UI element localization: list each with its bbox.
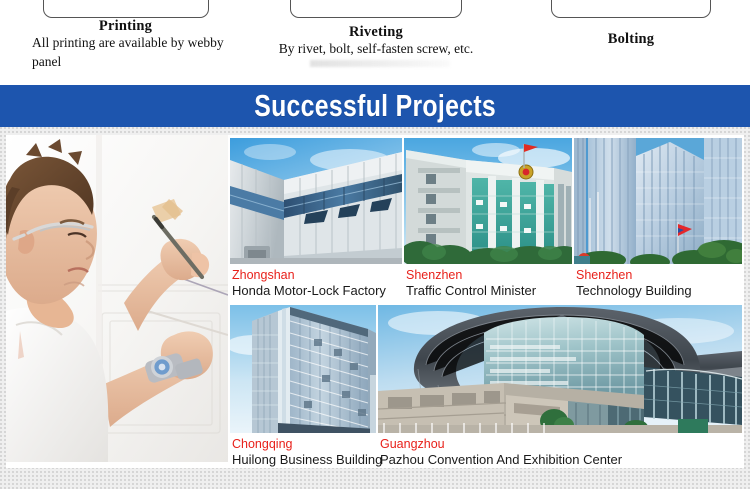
project-caption-5: Guangzhou Pazhou Convention And Exhibiti… [380, 437, 622, 468]
project-city-3: Shenzhen [576, 268, 692, 283]
project-city-2: Shenzhen [406, 268, 536, 283]
blue-glass-office-tower-photo [230, 305, 376, 433]
grey-panel-factory-photo [230, 138, 402, 264]
project-name-3: Technology Building [576, 283, 692, 299]
projects-panel: Zhongshan Honda Motor-Lock Factory [6, 135, 744, 468]
page-root: Printing All printing are available by w… [0, 0, 750, 489]
section-banner: Successful Projects [0, 85, 750, 127]
process-title-riveting: Riveting [254, 24, 498, 40]
project-image-3 [574, 138, 742, 264]
project-caption-1: Zhongshan Honda Motor-Lock Factory [232, 268, 386, 299]
printing-box-icon [43, 0, 209, 18]
process-description-printing: All printing are available by webby pane… [32, 33, 228, 71]
worker-marking-white-panel-photo [6, 135, 228, 462]
glass-tower-photo [574, 138, 742, 264]
rivet-screw-icon [290, 0, 462, 18]
clipped-text-artifact [310, 60, 450, 67]
project-name-4: Huilong Business Building [232, 452, 382, 468]
project-name-5: Pazhou Convention And Exhibition Center [380, 452, 622, 468]
project-city-5: Guangzhou [380, 437, 622, 452]
project-image-1 [230, 138, 402, 264]
project-city-4: Chongqing [232, 437, 382, 452]
teal-glass-government-building-photo [404, 138, 572, 264]
banner-title: Successful Projects [254, 88, 496, 124]
project-caption-4: Chongqing Huilong Business Building [232, 437, 382, 468]
project-name-1: Honda Motor-Lock Factory [232, 283, 386, 299]
project-image-2 [404, 138, 572, 264]
project-caption-2: Shenzhen Traffic Control Minister [406, 268, 536, 299]
bolting-box-icon [551, 0, 711, 18]
project-city-1: Zhongshan [232, 268, 386, 283]
process-description-riveting: By rivet, bolt, self-fasten screw, etc. [254, 39, 498, 58]
project-name-2: Traffic Control Minister [406, 283, 536, 299]
project-image-4 [230, 305, 376, 433]
rivet-line-drawing [291, 0, 461, 17]
project-caption-3: Shenzhen Technology Building [576, 268, 692, 299]
hero-photo [6, 135, 228, 462]
process-title-bolting: Bolting [520, 31, 742, 47]
pazhou-curved-roof-complex-photo [378, 305, 742, 433]
project-image-5 [378, 305, 742, 433]
process-title-printing: Printing [18, 18, 233, 34]
process-section: Printing All printing are available by w… [0, 0, 750, 85]
